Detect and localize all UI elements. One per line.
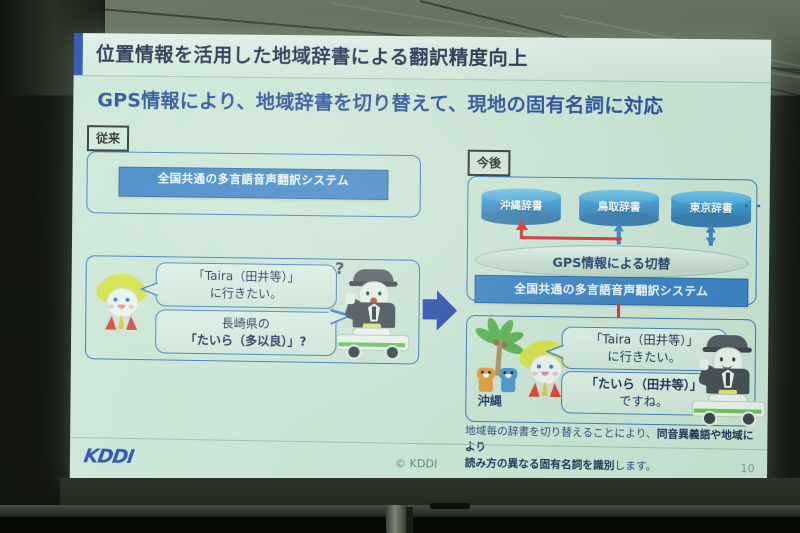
tourist-body-right	[550, 383, 561, 397]
shisa-statue-blue	[498, 368, 519, 393]
dictionary-okinawa-label: 沖縄辞書	[481, 197, 561, 213]
screen-mount	[386, 505, 408, 533]
page-title: 位置情報を活用した地域辞書による翻訳精度向上	[96, 39, 529, 70]
red-arrow-vertical	[520, 229, 523, 239]
bubble-tourist-after-line2: に行きたい。	[607, 348, 681, 367]
taxi-wheel-rear	[385, 345, 400, 360]
page-number: 10	[740, 462, 755, 475]
driver-eye-right	[378, 291, 381, 295]
arrow-head-tokyo-down	[706, 238, 716, 246]
driver-tie	[726, 373, 730, 386]
bubble-driver-after-line2: ですね。	[619, 393, 668, 411]
tourist-body-left	[528, 382, 539, 396]
red-arrow-head	[516, 220, 528, 230]
bubble-driver-before-line2: 「たいら（多以良）」?	[185, 332, 307, 351]
question-mark-icon: ?	[335, 259, 345, 278]
slide: 位置情報を活用した地域辞書による翻訳精度向上 GPS情報により、地域辞書を切り替…	[70, 33, 772, 494]
slide-subtitle: GPS情報により、地域辞書を切り替えて、現地の固有名詞に対応	[97, 85, 756, 119]
dictionary-tottori: 鳥取辞書	[579, 189, 659, 224]
shisa-body	[501, 378, 515, 392]
taxi-before	[336, 325, 407, 354]
system-bar-before: 全国共通の多言語音声翻訳システム	[118, 167, 388, 200]
tourist-face	[106, 287, 138, 318]
taxi-wheel-front	[346, 344, 361, 359]
transition-arrow-icon	[422, 290, 457, 331]
tourist-eye-right	[125, 298, 129, 302]
dictionary-okinawa: 沖縄辞書	[481, 188, 561, 223]
bubble-driver-before: 長崎県の 「たいら（多以良）」?	[155, 309, 337, 356]
tourist-body-left	[105, 315, 116, 329]
title-accent-bar	[74, 33, 83, 75]
tourist-cheek-right	[128, 305, 134, 309]
palm-coconut	[493, 340, 499, 346]
driver-eye-left	[720, 357, 723, 361]
dictionary-tokyo: 東京辞書	[671, 191, 751, 226]
floor-object	[430, 503, 470, 509]
driver-eye-left	[366, 291, 369, 295]
bubble-tail-tourist-after-fill	[549, 345, 564, 357]
footnote-line1-normal: 地域毎の辞書を切り替えることにより、	[465, 425, 657, 440]
photograph-of-projected-slide: 位置情報を活用した地域辞書による翻訳精度向上 GPS情報により、地域辞書を切り替…	[0, 0, 800, 533]
tourist-cheek-left	[532, 371, 538, 375]
tourist-body-right	[126, 316, 137, 330]
bubble-tourist-after-line1: 「Taira（田井等）」	[590, 331, 699, 350]
system-bar-after: 全国共通の多言語音声翻訳システム	[474, 275, 748, 307]
bubble-driver-before-line1: 長崎県の	[222, 315, 270, 333]
taxi-wheel-rear	[741, 411, 757, 426]
bubble-tourist-before-line2: に行きたい。	[210, 285, 283, 304]
taxi-wheel-front	[702, 411, 718, 426]
bubble-tourist-before-line1: 「Taira（田井等）」	[193, 267, 300, 286]
arrow-head-tokyo	[706, 224, 716, 232]
bubble-driver-after-line1: 「たいら（田井等）」	[586, 375, 703, 395]
tag-before: 従来	[87, 125, 129, 152]
driver-eye-right	[732, 357, 735, 361]
arrow-head-tottori	[614, 223, 624, 231]
screen-mount-secondary	[406, 507, 413, 533]
bubble-tourist-before: 「Taira（田井等）」 に行きたい。	[155, 262, 337, 309]
driver-avatar-before	[345, 269, 404, 328]
region-label-okinawa: 沖縄	[478, 392, 503, 410]
taxi-after	[692, 391, 764, 421]
gps-switch-label: GPS情報による切替	[552, 251, 670, 272]
shisa-statue-orange	[476, 368, 497, 393]
driver-hand-device	[346, 293, 355, 304]
tourist-avatar-before	[99, 273, 144, 330]
dictionary-tokyo-label: 東京辞書	[671, 200, 751, 216]
driver-hand-device	[699, 359, 708, 370]
red-link-tick-down	[617, 303, 620, 317]
dictionary-more-ellipsis: ・・・	[741, 197, 771, 214]
dictionary-tottori-label: 鳥取辞書	[579, 198, 659, 214]
tourist-cheek-right	[552, 372, 558, 376]
palm-coconut	[501, 342, 507, 348]
tourist-eye-left	[113, 298, 117, 302]
shisa-body	[479, 378, 493, 392]
driver-avatar-after	[698, 335, 758, 395]
tourist-cheek-left	[108, 305, 114, 309]
driver-tie	[372, 306, 376, 319]
tag-after: 今後	[468, 150, 511, 177]
tourist-face	[530, 354, 563, 385]
bubble-tail-tourist-before-fill	[144, 283, 159, 295]
slide-title-band: 位置情報を活用した地域辞書による翻訳精度向上	[74, 33, 772, 83]
tourist-eye-right	[549, 365, 553, 369]
tourist-eye-left	[537, 364, 541, 368]
